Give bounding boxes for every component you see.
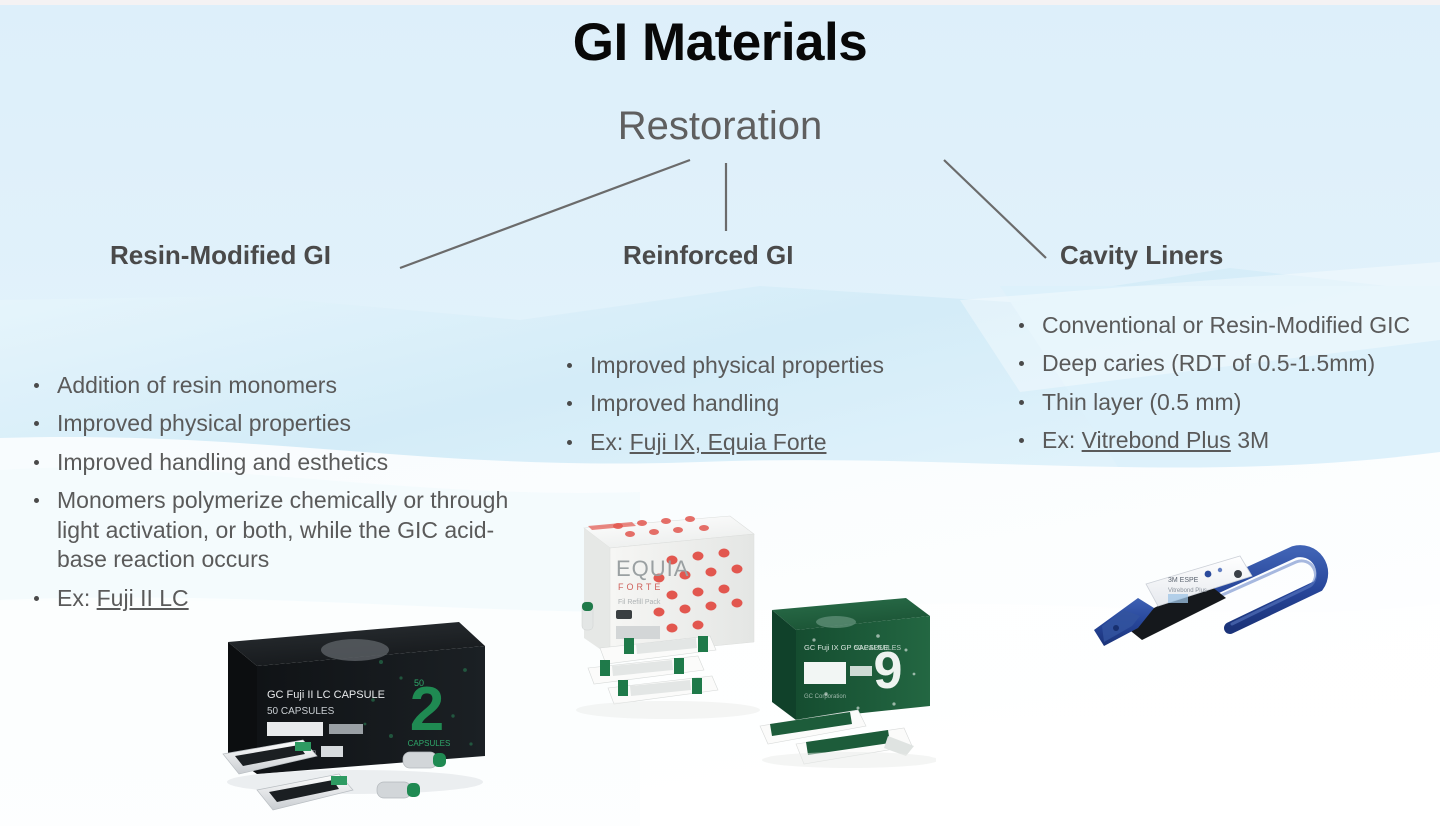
fuji-ii-lc-capsule-box-photo: 2 50 CAPSULES GC Fuji II LC CAPSULE 50 C…	[205, 604, 505, 826]
list-item: Monomers polymerize chemically or throug…	[30, 486, 522, 574]
svg-text:GC Fuji II LC CAPSULE: GC Fuji II LC CAPSULE	[267, 689, 385, 701]
example-suffix: 3M	[1231, 427, 1269, 453]
column-heading-resin-modified-gi: Resin-Modified GI	[110, 240, 331, 271]
bullet-list-cavity-liners: Conventional or Resin-Modified GIC Deep …	[1015, 311, 1435, 465]
vitrebond-plus-applicator-photo: 3M ESPE Vitrebond Plus	[1080, 524, 1350, 656]
svg-text:FORTE: FORTE	[618, 582, 663, 592]
list-item: Addition of resin monomers	[30, 371, 522, 400]
svg-text:3M ESPE: 3M ESPE	[1168, 577, 1199, 584]
svg-text:CAPSULES: CAPSULES	[408, 739, 451, 748]
list-item: Improved handling	[563, 389, 963, 418]
list-item: Improved physical properties	[30, 409, 522, 438]
example-product-name: Vitrebond Plus	[1082, 427, 1231, 453]
svg-text:EQUIA: EQUIA	[616, 556, 689, 581]
example-prefix: Ex:	[1042, 427, 1082, 453]
column-heading-reinforced-gi: Reinforced GI	[623, 240, 793, 271]
slide-canvas: GI Materials Restoration Resin-Modified …	[0, 0, 1440, 826]
list-item: Improved handling and esthetics	[30, 448, 522, 477]
list-item: Thin layer (0.5 mm)	[1015, 388, 1435, 417]
svg-text:50 CAPSULES: 50 CAPSULES	[854, 645, 901, 652]
bullet-list-resin-modified-gi: Addition of resin monomers Improved phys…	[30, 371, 522, 622]
svg-text:50: 50	[414, 678, 424, 688]
list-item: Deep caries (RDT of 0.5-1.5mm)	[1015, 349, 1435, 378]
list-item-example: Ex: Fuji IX, Equia Forte	[563, 428, 963, 457]
svg-text:50 CAPSULES: 50 CAPSULES	[267, 706, 335, 717]
connector-right-line	[944, 160, 1046, 258]
list-item-example: Ex: Vitrebond Plus 3M	[1015, 426, 1435, 455]
example-product-name: Fuji IX, Equia Forte	[630, 429, 827, 455]
column-heading-cavity-liners: Cavity Liners	[1060, 240, 1223, 271]
list-item: Conventional or Resin-Modified GIC	[1015, 311, 1435, 340]
example-prefix: Ex:	[57, 585, 97, 611]
svg-text:Vitrebond Plus: Vitrebond Plus	[1168, 588, 1207, 594]
example-product-name: Fuji II LC	[97, 585, 189, 611]
equia-forte-and-fuji-ix-photo: EQUIA FORTE Fil Refill Pack	[558, 498, 936, 768]
svg-text:Fil Refill Pack: Fil Refill Pack	[618, 599, 661, 606]
bullet-list-reinforced-gi: Improved physical properties Improved ha…	[563, 351, 963, 466]
example-prefix: Ex:	[590, 429, 630, 455]
list-item: Improved physical properties	[563, 351, 963, 380]
